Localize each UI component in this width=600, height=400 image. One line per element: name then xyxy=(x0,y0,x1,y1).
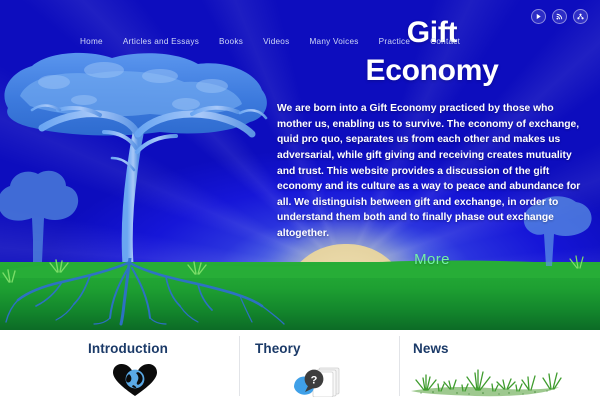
nav-list: Home Articles and Essays Books Videos Ma… xyxy=(80,31,460,49)
documents-question-icon: ? xyxy=(292,365,344,397)
tree-roots-graphic xyxy=(0,258,330,326)
column-introduction[interactable]: Introduction xyxy=(0,330,240,400)
column-theory-heading: Theory xyxy=(240,341,400,356)
nav-books[interactable]: Books xyxy=(219,37,243,46)
nav-articles-and-essays[interactable]: Articles and Essays xyxy=(123,37,199,46)
nav-home[interactable]: Home xyxy=(80,37,103,46)
column-news[interactable]: News xyxy=(400,330,600,400)
nav-item[interactable]: Many Voices xyxy=(309,31,358,49)
heart-globe-icon xyxy=(112,363,158,397)
acacia-tree-graphic xyxy=(0,52,290,267)
nav-item[interactable]: Contact xyxy=(430,31,460,49)
rss-icon xyxy=(556,13,563,20)
nav-item[interactable]: Books xyxy=(219,31,243,49)
nav-practice[interactable]: Practice xyxy=(379,37,411,46)
main-navigation: Home Articles and Essays Books Videos Ma… xyxy=(0,0,600,62)
play-icon xyxy=(535,13,542,20)
nav-item[interactable]: Articles and Essays xyxy=(123,31,199,49)
nav-item[interactable]: Practice xyxy=(379,31,411,49)
social-link-share[interactable] xyxy=(573,9,588,24)
grass-sprouts-icon xyxy=(405,364,565,398)
nav-contact[interactable]: Contact xyxy=(430,37,460,46)
social-link-video[interactable] xyxy=(531,9,546,24)
svg-text:?: ? xyxy=(311,374,318,386)
social-link-rss[interactable] xyxy=(552,9,567,24)
hero-paragraph: We are born into a Gift Economy practice… xyxy=(277,101,587,242)
feature-columns: Introduction Theory xyxy=(0,330,600,400)
share-icon xyxy=(577,13,584,20)
column-theory[interactable]: Theory ? xyxy=(240,330,400,400)
nav-many-voices[interactable]: Many Voices xyxy=(309,37,358,46)
nav-videos[interactable]: Videos xyxy=(263,37,289,46)
more-link[interactable]: More xyxy=(277,251,587,268)
nav-item[interactable]: Videos xyxy=(263,31,289,49)
nav-item[interactable]: Home xyxy=(80,31,103,49)
social-links xyxy=(531,9,588,24)
column-news-heading: News xyxy=(400,341,600,356)
column-introduction-heading: Introduction xyxy=(0,341,240,356)
hero-banner: Home Articles and Essays Books Videos Ma… xyxy=(0,0,600,330)
